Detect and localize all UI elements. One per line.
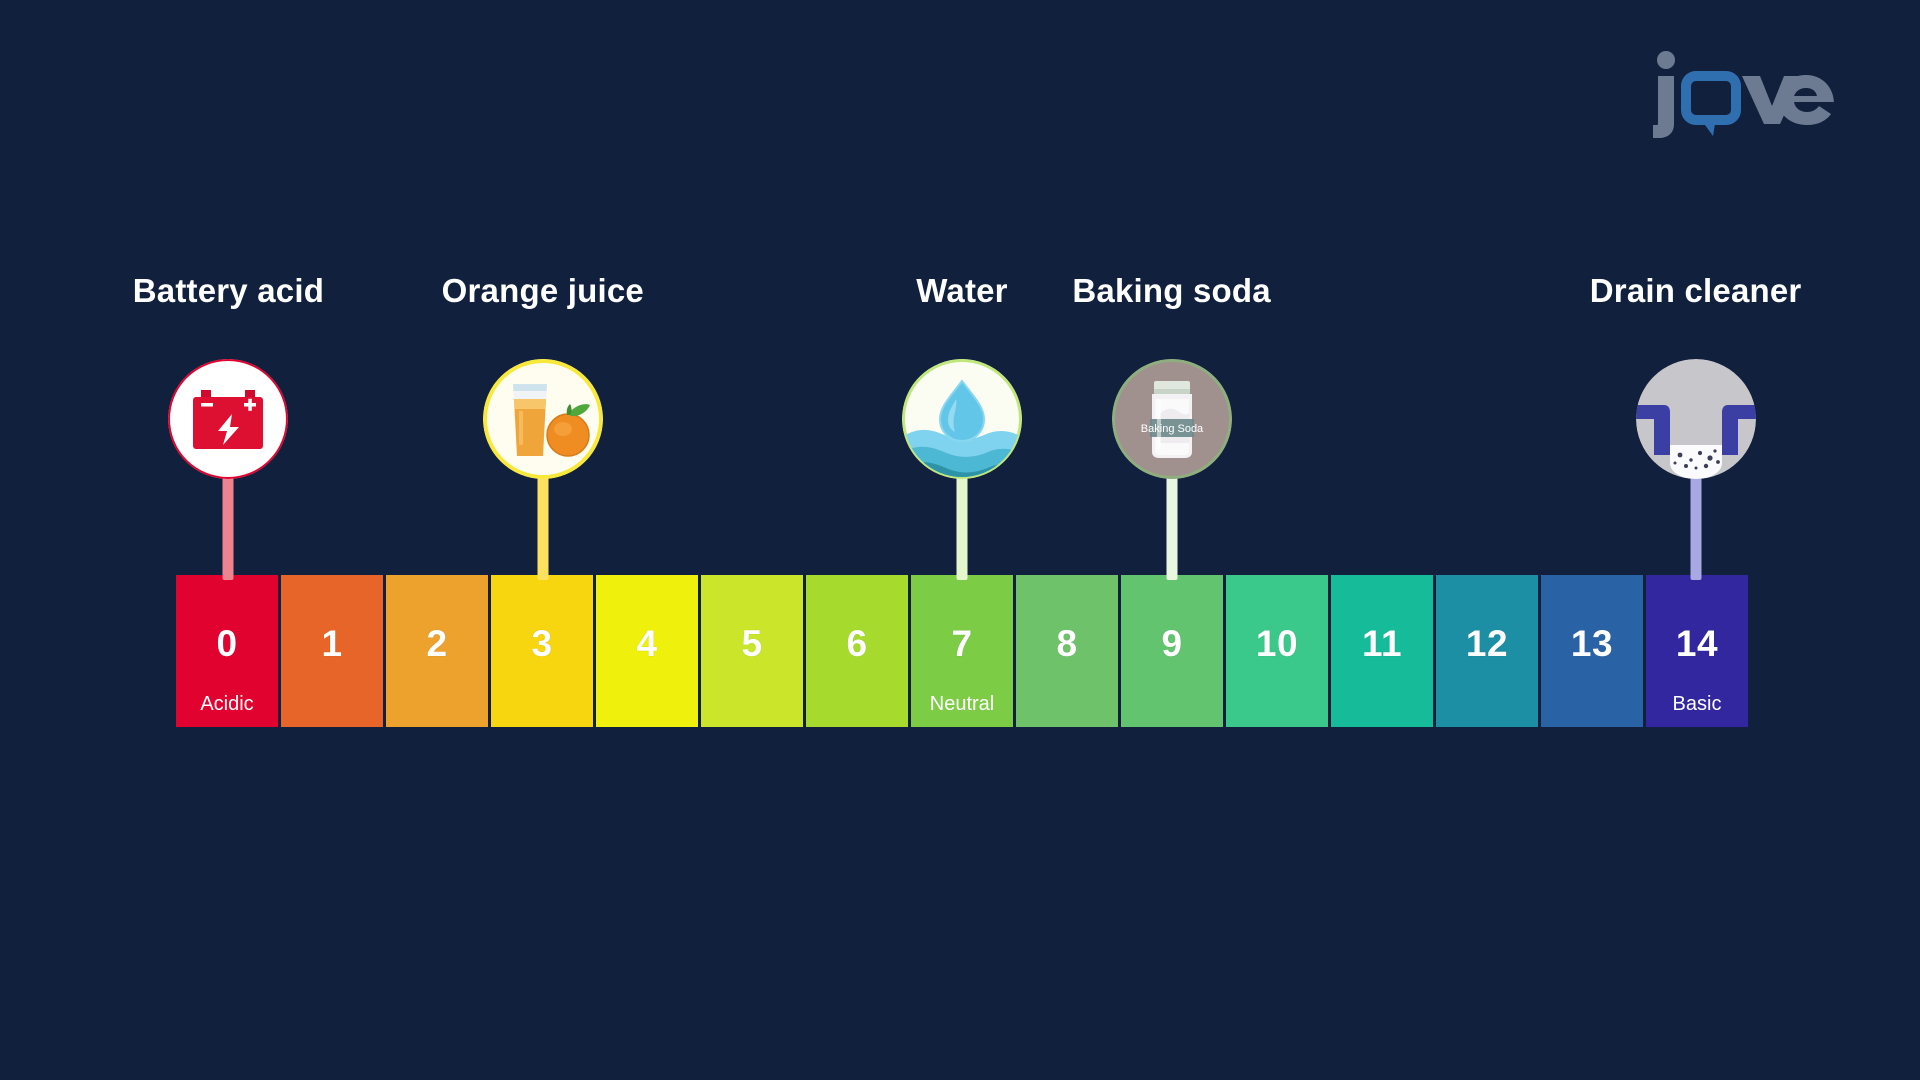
ph-cell-5[interactable]: 5 [701,575,803,727]
ph-cell-number: 2 [426,625,447,662]
svg-text:Baking Soda: Baking Soda [1140,423,1203,435]
ph-cell-14[interactable]: 14Basic [1646,575,1748,727]
ph-cell-number: 1 [321,625,342,662]
ph-cell-2[interactable]: 2 [386,575,488,727]
ph-marker-label: Water [916,272,1007,310]
ph-marker-stem [1166,470,1177,580]
ph-cell-annotation: Acidic [176,694,278,714]
ph-cell-6[interactable]: 6 [806,575,908,727]
ph-cell-8[interactable]: 8 [1016,575,1118,727]
ph-cell-10[interactable]: 10 [1226,575,1328,727]
ph-cell-annotation: Basic [1646,694,1748,714]
ph-cell-number: 6 [846,625,867,662]
ph-cell-number: 8 [1056,625,1077,662]
baking-soda-jar-icon: Baking Soda [1112,359,1232,479]
ph-cell-number: 9 [1161,625,1182,662]
battery-icon[interactable] [168,359,288,479]
battery-icon [168,359,288,479]
water-drop-icon [902,359,1022,479]
ph-marker-label: Battery acid [133,272,324,310]
ph-marker-stem [1690,470,1701,580]
ph-cell-number: 4 [636,625,657,662]
ph-cell-number: 12 [1466,625,1508,662]
ph-marker-stem [537,470,548,580]
ph-cell-12[interactable]: 12 [1436,575,1538,727]
ph-cell-number: 5 [741,625,762,662]
ph-cell-13[interactable]: 13 [1541,575,1643,727]
ph-cell-4[interactable]: 4 [596,575,698,727]
drain-pipe-icon[interactable] [1636,359,1756,479]
orange-juice-icon[interactable] [483,359,603,479]
ph-cell-annotation: Neutral [911,694,1013,714]
ph-cell-number: 3 [531,625,552,662]
ph-cell-number: 7 [951,625,972,662]
orange-juice-icon [483,359,603,479]
ph-marker-stem [223,470,234,580]
water-drop-icon[interactable] [902,359,1022,479]
drain-pipe-icon [1636,359,1756,479]
ph-marker-label: Drain cleaner [1590,272,1802,310]
ph-cell-number: 11 [1362,625,1402,662]
ph-cell-9[interactable]: 9 [1121,575,1223,727]
ph-scale-infographic: 0Acidic1234567Neutral891011121314Basic B… [0,0,1920,1080]
ph-marker-stem [957,470,968,580]
baking-soda-jar-icon[interactable]: Baking Soda [1112,359,1232,479]
ph-scale-bar: 0Acidic1234567Neutral891011121314Basic [176,575,1748,727]
ph-cell-7[interactable]: 7Neutral [911,575,1013,727]
ph-cell-11[interactable]: 11 [1331,575,1433,727]
ph-cell-number: 14 [1676,625,1718,662]
ph-cell-number: 0 [216,625,237,662]
ph-marker-label: Orange juice [442,272,644,310]
ph-cell-0[interactable]: 0Acidic [176,575,278,727]
ph-marker-label: Baking soda [1072,272,1270,310]
ph-cell-number: 13 [1571,625,1613,662]
ph-cell-1[interactable]: 1 [281,575,383,727]
ph-cell-number: 10 [1256,625,1298,662]
ph-cell-3[interactable]: 3 [491,575,593,727]
